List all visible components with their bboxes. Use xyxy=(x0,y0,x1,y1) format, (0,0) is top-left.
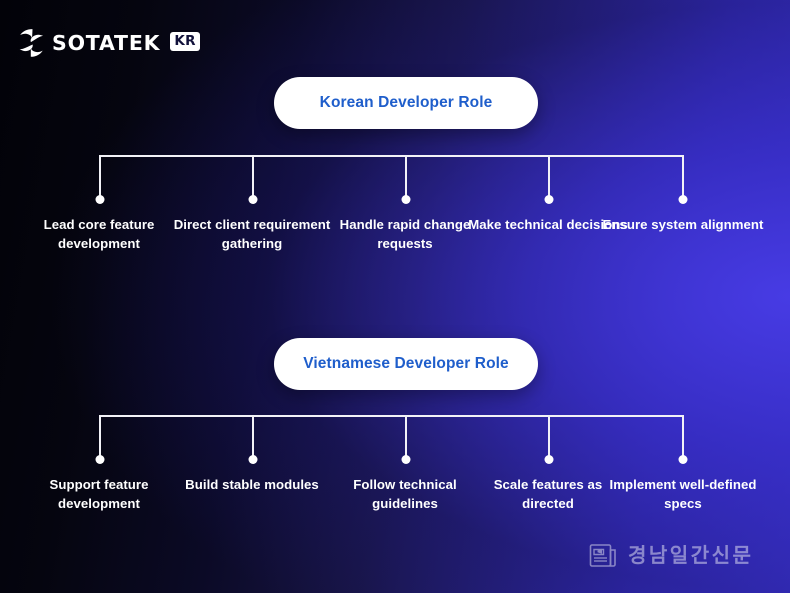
brand-logo: SOTATEK KR xyxy=(18,26,200,60)
connector-dot xyxy=(679,455,688,464)
item-label: Build stable modules xyxy=(170,475,334,494)
connector-vietnamese xyxy=(99,415,684,461)
infographic-canvas: SOTATEK KR Korean Developer Role Lead co… xyxy=(0,0,790,593)
connector-stem xyxy=(99,155,101,199)
connector-dot xyxy=(249,195,258,204)
connector-stem xyxy=(682,415,684,459)
pill-vietnamese-developer-role: Vietnamese Developer Role xyxy=(274,338,538,390)
connector-dot xyxy=(96,455,105,464)
sotatek-swirl-icon xyxy=(18,28,45,58)
watermark: 경남일간신문 xyxy=(588,540,753,570)
connector-stem xyxy=(405,415,407,459)
item-label: Lead core feature development xyxy=(17,215,181,253)
brand-wordmark: SOTATEK xyxy=(52,33,160,54)
watermark-text: 경남일간신문 xyxy=(628,545,753,565)
connector-dot xyxy=(679,195,688,204)
connector-dot xyxy=(96,195,105,204)
pill-label: Vietnamese Developer Role xyxy=(303,355,509,373)
newspaper-icon xyxy=(588,540,618,570)
connector-stem xyxy=(548,155,550,199)
connector-stem xyxy=(682,155,684,199)
connector-dot xyxy=(402,195,411,204)
item-label: Follow technical guidelines xyxy=(323,475,487,513)
items-korean: Lead core feature development Direct cli… xyxy=(0,215,790,275)
connector-dot xyxy=(249,455,258,464)
connector-horizontal-bar xyxy=(99,415,684,417)
pill-label: Korean Developer Role xyxy=(320,94,493,112)
item-label: Implement well-defined specs xyxy=(601,475,765,513)
item-label: Support feature development xyxy=(17,475,181,513)
items-vietnamese: Support feature development Build stable… xyxy=(0,475,790,535)
connector-dot xyxy=(545,195,554,204)
item-label: Ensure system alignment xyxy=(601,215,765,234)
pill-korean-developer-role: Korean Developer Role xyxy=(274,77,538,129)
connector-horizontal-bar xyxy=(99,155,684,157)
connector-dot xyxy=(402,455,411,464)
brand-region-badge: KR xyxy=(170,32,199,51)
connector-dot xyxy=(545,455,554,464)
connector-stem xyxy=(252,415,254,459)
connector-stem xyxy=(252,155,254,199)
connector-korean xyxy=(99,155,684,201)
connector-stem xyxy=(99,415,101,459)
connector-stem xyxy=(405,155,407,199)
item-label: Direct client requirement gathering xyxy=(170,215,334,253)
item-label: Handle rapid change requests xyxy=(323,215,487,253)
connector-stem xyxy=(548,415,550,459)
